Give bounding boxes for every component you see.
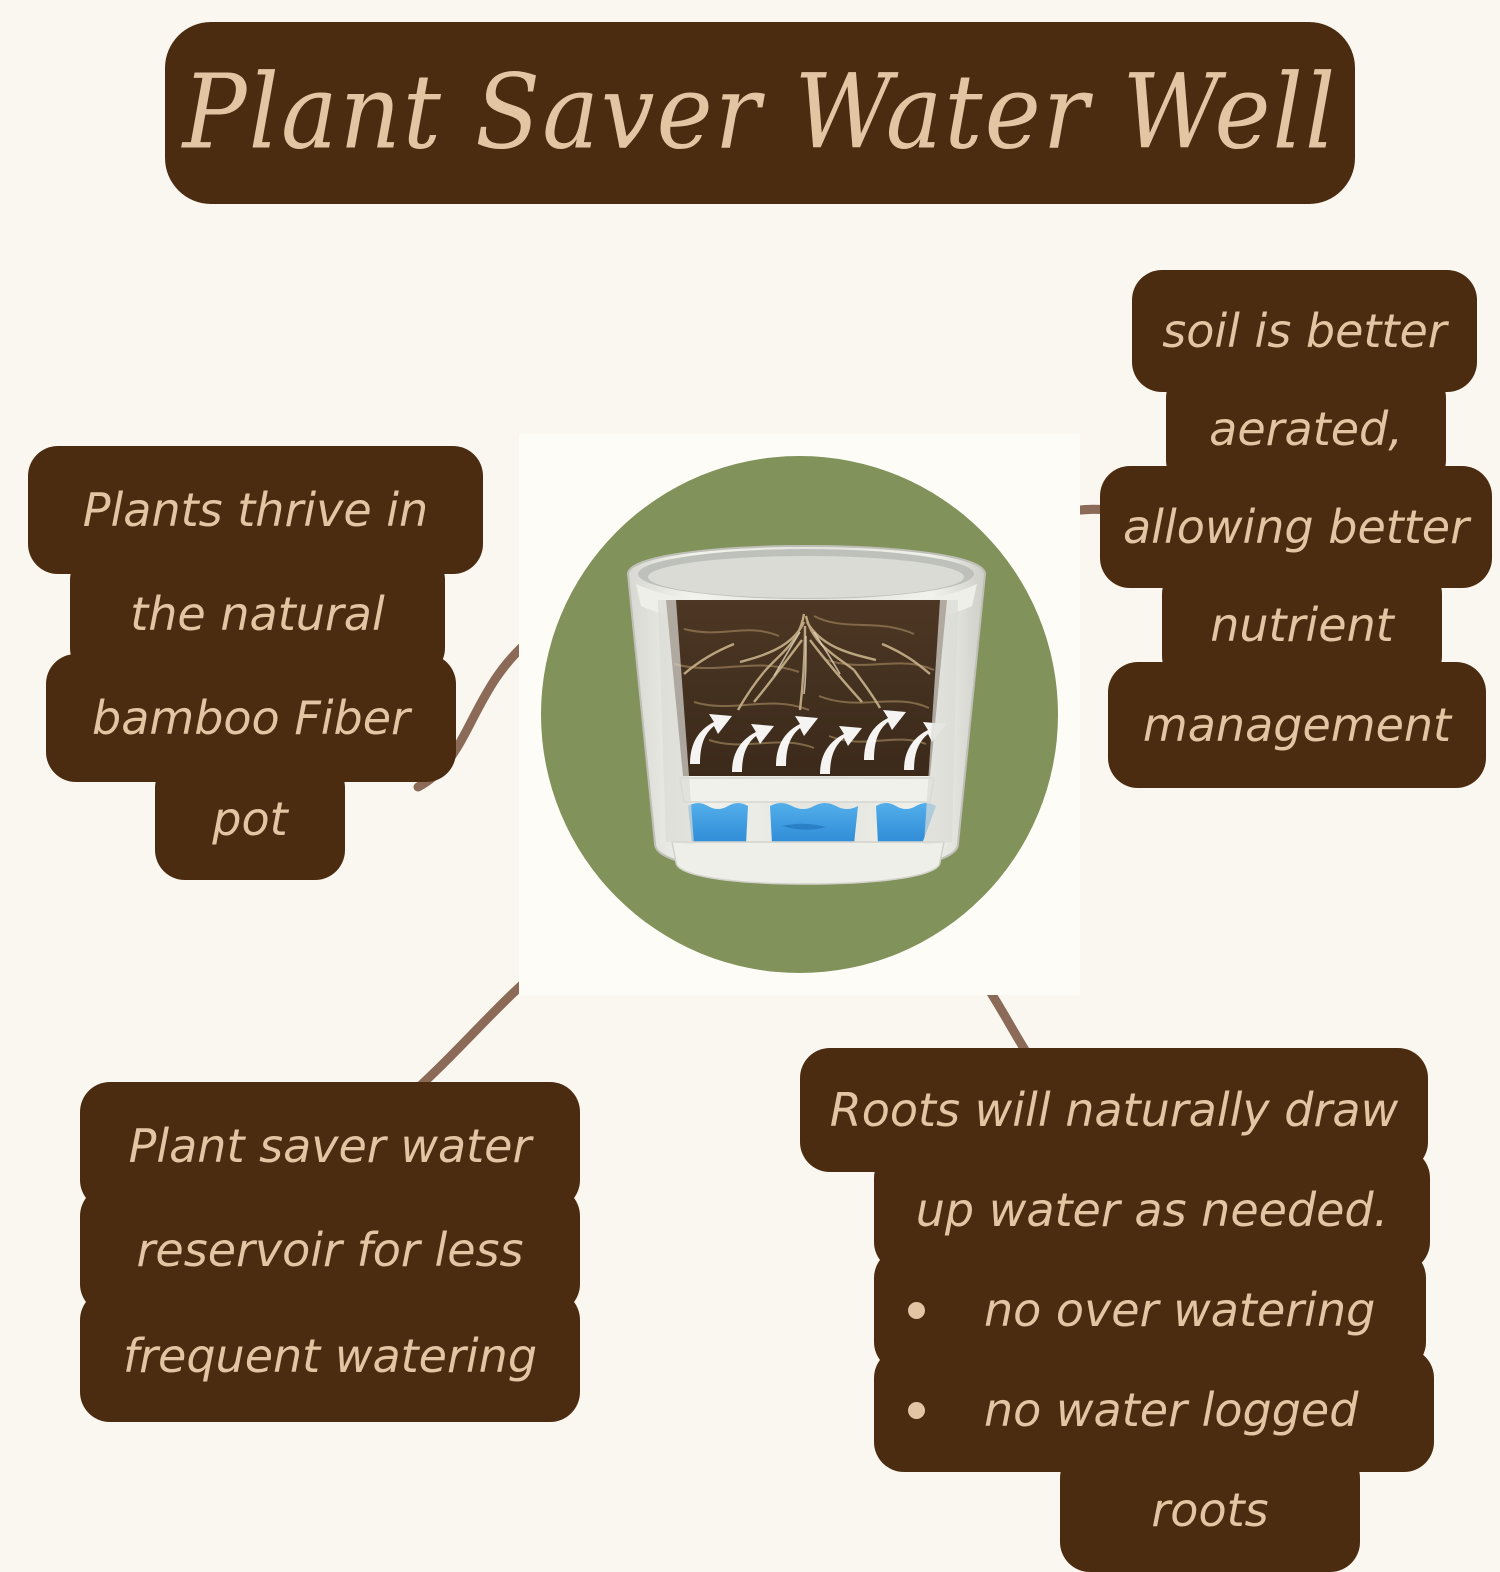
callout-line-band: frequent watering (80, 1290, 580, 1422)
soil-region (654, 594, 964, 789)
illustration-panel (519, 434, 1080, 995)
page-title: Plant Saver Water Well (183, 62, 1338, 165)
callout-line-text: roots (1060, 1487, 1360, 1533)
callout-line-text: nutrient (1162, 602, 1442, 648)
water-section-2 (770, 803, 858, 844)
callout-line-band: pot (155, 758, 345, 880)
reservoir-shelf (680, 778, 934, 802)
pot-cutaway-graphic (614, 544, 999, 899)
callout-line-text: Roots will naturally draw (800, 1087, 1428, 1133)
callout-line-text: Plant saver water (80, 1123, 580, 1169)
callout-line-band: roots (1060, 1448, 1360, 1572)
callout-line-text: the natural (70, 591, 445, 637)
water-reservoir (688, 803, 936, 844)
callout-line-text: soil is better (1132, 308, 1477, 354)
callout-line-text: Plants thrive in (28, 487, 483, 533)
water-section-1 (688, 803, 748, 844)
callout-line-text: allowing better (1100, 504, 1492, 550)
callout-line-text: no over watering (874, 1287, 1426, 1333)
callout-line-text: up water as needed. (874, 1187, 1430, 1233)
callout-line-text: management (1108, 702, 1486, 748)
callout-line-text: frequent watering (80, 1333, 580, 1379)
pot-base (672, 842, 944, 884)
callout-line-text: bamboo Fiber (46, 695, 456, 741)
callout-line-band: management (1108, 662, 1486, 788)
page-title-banner: Plant Saver Water Well (165, 22, 1355, 204)
pot-rim-inner-highlight (648, 556, 964, 598)
callout-line-text: aerated, (1166, 406, 1446, 452)
callout-line-text: reservoir for less (80, 1227, 580, 1273)
callout-line-text: pot (155, 796, 345, 842)
callout-line-text: no water logged (874, 1387, 1434, 1433)
